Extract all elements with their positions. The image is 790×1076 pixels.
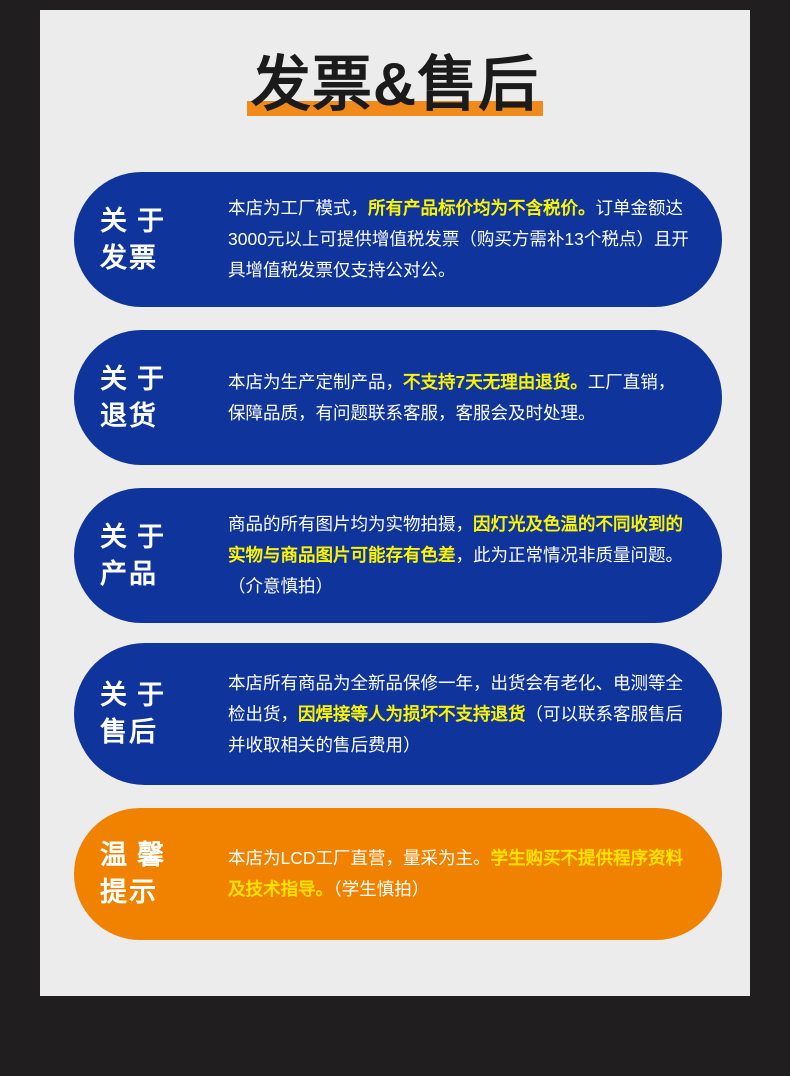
page-title-text: 发票&售后 — [251, 51, 539, 118]
highlighted-text: 因焊接等人为损坏不支持退货 — [298, 704, 526, 724]
card-label-line2: 产品 — [100, 556, 228, 593]
card-body-invoice: 本店为工厂模式，所有产品标价均为不含税价。订单金额达3000元以上可提供增值税发… — [228, 193, 722, 286]
card-body-notice: 本店为LCD工厂直营，量采为主。学生购买不提供程序资料及技术指导。（学生慎拍） — [228, 843, 722, 905]
card-label-line1: 关于 — [100, 361, 228, 398]
content-panel: 发票&售后 关于 发票 本店为工厂模式，所有产品标价均为不含税价。订单金额达30… — [40, 10, 750, 996]
card-body-product: 商品的所有图片均为实物拍摄，因灯光及色温的不同收到的实物与商品图片可能存有色差，… — [228, 509, 722, 602]
card-about-return: 关于 退货 本店为生产定制产品，不支持7天无理由退货。工厂直销，保障品质，有问题… — [74, 330, 722, 465]
title-inline-wrap: 发票&售后 — [245, 48, 545, 122]
card-label-line1: 温馨 — [100, 837, 228, 874]
page-title: 发票&售后 — [40, 48, 750, 122]
card-label-line2: 发票 — [100, 240, 228, 277]
highlighted-text: 不支持7天无理由退货。 — [403, 372, 588, 392]
card-body-return: 本店为生产定制产品，不支持7天无理由退货。工厂直销，保障品质，有问题联系客服，客… — [228, 367, 722, 429]
card-label-product: 关于 产品 — [74, 519, 228, 593]
body-text: （学生慎拍） — [333, 879, 429, 899]
card-about-invoice: 关于 发票 本店为工厂模式，所有产品标价均为不含税价。订单金额达3000元以上可… — [74, 172, 722, 307]
highlighted-text: 所有产品标价均为不含税价。 — [368, 198, 596, 218]
body-text: 本店为LCD工厂直营，量采为主。 — [228, 848, 491, 868]
card-label-line2: 提示 — [100, 874, 228, 911]
card-label-return: 关于 退货 — [74, 361, 228, 435]
body-text: 本店为工厂模式， — [228, 198, 368, 218]
page-root: 发票&售后 关于 发票 本店为工厂模式，所有产品标价均为不含税价。订单金额达30… — [0, 0, 790, 1076]
card-label-invoice: 关于 发票 — [74, 203, 228, 277]
card-label-line2: 售后 — [100, 714, 228, 751]
card-label-line1: 关于 — [100, 203, 228, 240]
card-label-line2: 退货 — [100, 398, 228, 435]
card-label-notice: 温馨 提示 — [74, 837, 228, 911]
card-about-service: 关于 售后 本店所有商品为全新品保修一年，出货会有老化、电测等全检出货，因焊接等… — [74, 643, 722, 785]
body-text: 商品的所有图片均为实物拍摄， — [228, 514, 473, 534]
card-about-product: 关于 产品 商品的所有图片均为实物拍摄，因灯光及色温的不同收到的实物与商品图片可… — [74, 488, 722, 623]
card-label-line1: 关于 — [100, 677, 228, 714]
card-body-service: 本店所有商品为全新品保修一年，出货会有老化、电测等全检出货，因焊接等人为损坏不支… — [228, 668, 722, 761]
card-label-line1: 关于 — [100, 519, 228, 556]
card-friendly-notice: 温馨 提示 本店为LCD工厂直营，量采为主。学生购买不提供程序资料及技术指导。（… — [74, 808, 722, 940]
card-label-service: 关于 售后 — [74, 677, 228, 751]
body-text: 本店为生产定制产品， — [228, 372, 403, 392]
